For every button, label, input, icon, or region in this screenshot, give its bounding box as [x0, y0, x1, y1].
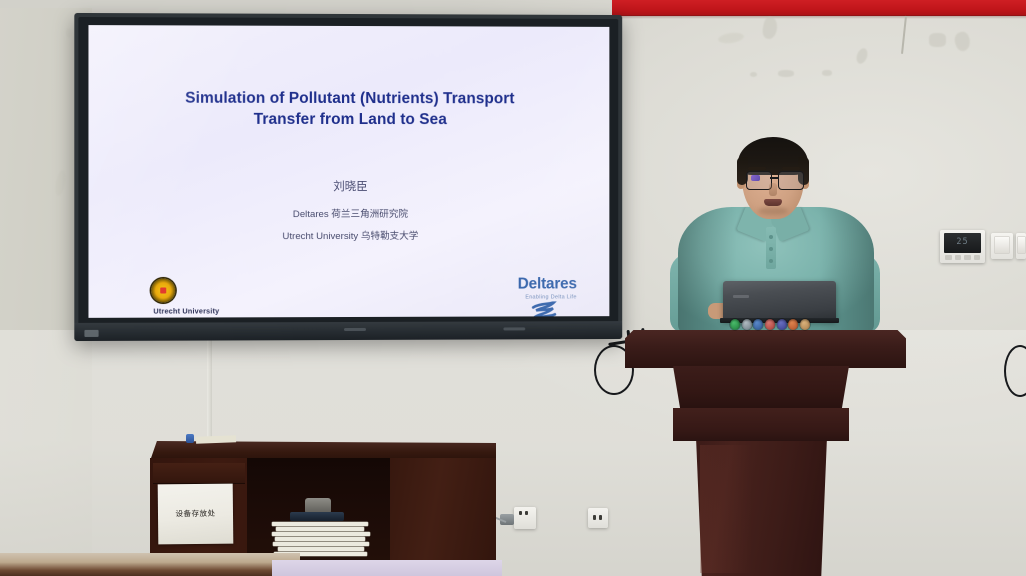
front-desk	[0, 553, 300, 576]
utrecht-university-logo: Utrecht University	[131, 278, 242, 318]
switch-rocker[interactable]	[1018, 237, 1025, 253]
cabinet-drawer[interactable]	[153, 463, 245, 484]
slide-author: 刘晓臣	[88, 178, 609, 194]
cabinet-sign-text: 设备存放处	[158, 508, 233, 520]
thermostat-buttons[interactable]	[945, 255, 980, 260]
thermostat-button[interactable]	[955, 255, 962, 260]
deltares-tagline: Enabling Delta Life	[470, 294, 577, 300]
red-banner-shadow	[612, 15, 1026, 19]
screen-sensor	[503, 327, 525, 330]
slide-title-line2: Transfer from Land to Sea	[88, 109, 609, 131]
shirt-button	[769, 235, 773, 239]
deltares-wave-icon	[531, 301, 557, 317]
front-desk-surface	[272, 560, 502, 576]
red-banner-strip	[612, 0, 1026, 16]
paint-patch	[778, 70, 794, 77]
badge-grey	[742, 319, 752, 330]
slide-affiliation-deltares: Deltares 荷兰三角洲研究院	[88, 206, 609, 220]
paper-sheet	[278, 547, 364, 551]
marker-pen	[186, 434, 194, 443]
slide-surface: Simulation of Pollutant (Nutrients) Tran…	[88, 25, 609, 318]
podium-mid-panel	[673, 408, 849, 441]
badge-red	[765, 319, 775, 330]
thermostat-value: 25	[944, 237, 981, 247]
switch-rocker[interactable]	[995, 237, 1009, 253]
glasses-bridge	[770, 177, 778, 179]
shirt-button	[769, 247, 773, 251]
screen-glare	[88, 25, 609, 318]
outlet-hole	[593, 515, 596, 520]
cabinet-sign: 设备存放处	[158, 484, 234, 545]
screen-brand-logo	[84, 330, 98, 337]
eyebrow-left	[748, 167, 766, 170]
folder	[290, 512, 344, 521]
slide-affiliation-utrecht: Utrecht University 乌特勒支大学	[88, 228, 609, 243]
power-outlet-plugged[interactable]	[514, 507, 536, 529]
thermostat-button[interactable]	[964, 255, 971, 260]
badge-orange	[788, 319, 798, 330]
loose-paper	[196, 435, 236, 443]
badge-blue	[753, 319, 763, 330]
presentation-screen[interactable]: Simulation of Pollutant (Nutrients) Tran…	[74, 13, 622, 341]
air-conditioner-controller[interactable]: 25	[940, 230, 985, 263]
deltares-logo-label: Deltares	[470, 275, 577, 293]
screen-sensor	[344, 328, 366, 331]
paper-sheet	[276, 527, 364, 531]
podium-neck	[673, 366, 849, 408]
thermostat-button[interactable]	[945, 255, 952, 260]
paper-sheet	[273, 542, 369, 546]
light-switch-left[interactable]	[991, 233, 1013, 259]
eyebrow-right	[782, 167, 800, 170]
nose	[769, 183, 777, 196]
shirt-button	[769, 259, 773, 263]
badge-green	[730, 319, 740, 330]
presentation-room-photo: Simulation of Pollutant (Nutrients) Tran…	[0, 0, 1026, 576]
outlet-hole	[599, 515, 602, 520]
badge-indigo	[777, 319, 787, 330]
paper-sheet	[272, 522, 368, 526]
slide-title-line1: Simulation of Pollutant (Nutrients) Tran…	[88, 87, 609, 109]
podium-highlight	[700, 445, 752, 573]
thermostat-display: 25	[944, 233, 981, 253]
mouth	[764, 199, 782, 206]
screen-chin	[74, 321, 622, 341]
paint-patch	[822, 70, 832, 76]
outlet-hole	[525, 511, 528, 515]
paper-sheet	[272, 532, 370, 536]
paint-patch	[750, 72, 757, 77]
deltares-logo: Deltares Enabling Delta Life	[470, 275, 594, 317]
paint-patch	[66, 28, 72, 38]
lens-reflection	[751, 175, 760, 181]
chin-shadow	[758, 207, 788, 215]
outlet-hole	[519, 511, 522, 515]
laptop-brand-mark	[733, 295, 749, 298]
utrecht-sun-icon	[151, 278, 175, 302]
glasses-lens-right	[778, 171, 804, 190]
utrecht-logo-label: Utrecht University	[131, 306, 242, 315]
slide-title: Simulation of Pollutant (Nutrients) Tran…	[88, 87, 609, 130]
paint-patch	[929, 33, 946, 47]
thermostat-button[interactable]	[974, 255, 981, 260]
power-outlet-empty[interactable]	[588, 508, 608, 528]
light-switch-right[interactable]	[1016, 233, 1026, 259]
podium-top	[625, 330, 906, 368]
podium-badges	[730, 319, 810, 334]
badge-tan	[800, 319, 810, 330]
paper-sheet	[275, 537, 365, 541]
laptop[interactable]	[723, 281, 836, 321]
